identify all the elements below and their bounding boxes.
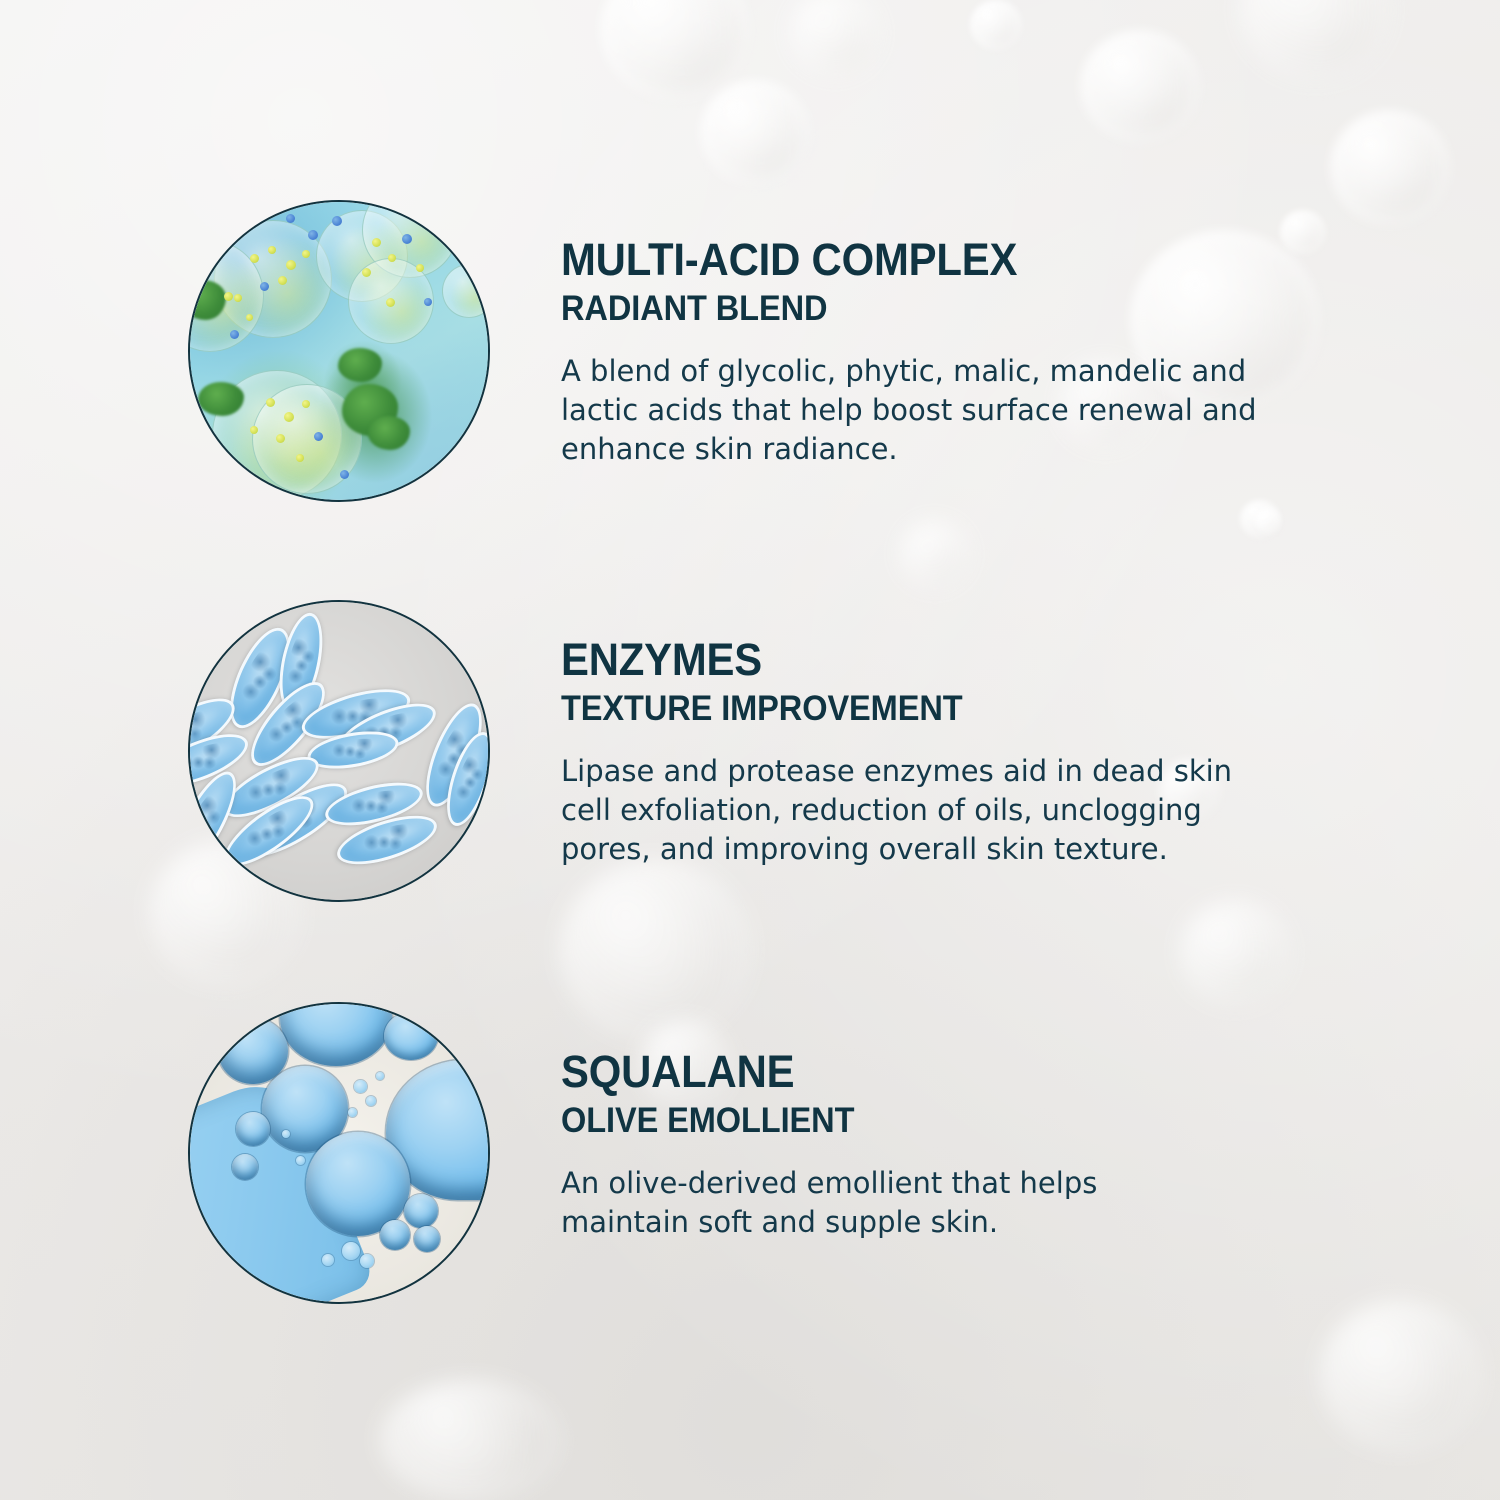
oil-droplet	[236, 1112, 270, 1146]
description-line: Lipase and protease enzymes aid in dead …	[561, 752, 1232, 791]
granule	[416, 264, 424, 272]
granule	[278, 276, 287, 285]
granule	[250, 426, 258, 434]
granule	[424, 298, 432, 306]
chloroplast-blob	[338, 348, 382, 382]
cell-body	[442, 264, 488, 318]
description-line: A blend of glycolic, phytic, malic, mand…	[561, 352, 1257, 391]
oil-droplet	[348, 1108, 357, 1117]
ingredient-text-multi-acid-complex: MULTI-ACID COMPLEX RADIANT BLEND A blend…	[561, 234, 1257, 469]
granule	[340, 470, 349, 479]
granule	[284, 412, 294, 422]
granule	[250, 254, 259, 263]
oil-droplet	[360, 1254, 374, 1268]
description-line: cell exfoliation, reduction of oils, unc…	[561, 791, 1232, 830]
granule	[296, 454, 304, 462]
background-bubble	[790, 0, 880, 76]
background-bubble	[1255, 508, 1281, 533]
background-bubble	[560, 860, 750, 1040]
granule	[302, 400, 310, 408]
chloroplast-blob	[198, 382, 244, 416]
squalane-droplets-circle	[188, 1002, 490, 1304]
enzyme-rods-image	[190, 602, 488, 900]
ingredient-description: Lipase and protease enzymes aid in dead …	[561, 752, 1232, 869]
description-line: lactic acids that help boost surface ren…	[561, 391, 1257, 430]
oil-droplet	[282, 1130, 290, 1138]
granule	[266, 398, 275, 407]
granule	[234, 294, 242, 302]
ingredient-title: SQUALANE	[561, 1046, 1060, 1098]
background-bubble	[1280, 210, 1326, 254]
background-bubble	[380, 1380, 560, 1500]
granule	[260, 282, 269, 291]
ingredient-subtitle: RADIANT BLEND	[561, 288, 1208, 330]
oil-droplet	[366, 1096, 376, 1106]
description-line: maintain soft and supple skin.	[561, 1203, 1097, 1242]
oil-droplet	[376, 1072, 384, 1080]
granule	[402, 234, 412, 244]
oil-droplet	[414, 1226, 440, 1252]
granule	[388, 254, 396, 262]
background-bubble	[1080, 30, 1200, 142]
ingredient-subtitle: OLIVE EMOLLIENT	[561, 1100, 1060, 1142]
background-bubble	[1330, 110, 1450, 225]
squalane-droplets-image	[190, 1004, 488, 1302]
background-bubble	[970, 0, 1022, 50]
granule	[276, 434, 285, 443]
description-line: An olive-derived emollient that helps	[561, 1164, 1097, 1203]
granule	[230, 330, 239, 339]
background-bubble	[1320, 1300, 1480, 1450]
oil-droplet	[232, 1154, 258, 1180]
ingredient-description: A blend of glycolic, phytic, malic, mand…	[561, 352, 1257, 469]
ingredient-description: An olive-derived emollient that helps ma…	[561, 1164, 1097, 1242]
background-bubble	[700, 80, 810, 185]
granule	[268, 246, 276, 254]
granule	[308, 230, 318, 240]
granule	[372, 238, 381, 247]
oil-droplet	[354, 1080, 367, 1093]
ingredient-title: ENZYMES	[561, 634, 1185, 686]
granule	[302, 250, 310, 258]
granule	[386, 298, 395, 307]
granule	[314, 432, 323, 441]
oil-droplet	[380, 1220, 410, 1250]
description-line: pores, and improving overall skin textur…	[561, 830, 1232, 869]
granule	[224, 292, 233, 301]
background-bubble	[1240, 0, 1390, 80]
granule	[246, 314, 253, 321]
oil-droplet	[404, 1194, 438, 1228]
acid-cells-microscopy-circle	[188, 200, 490, 502]
oil-droplet	[296, 1156, 305, 1165]
ingredient-text-enzymes: ENZYMES TEXTURE IMPROVEMENT Lipase and p…	[561, 634, 1232, 869]
ingredient-subtitle: TEXTURE IMPROVEMENT	[561, 688, 1185, 730]
granule	[332, 216, 342, 226]
ingredient-title: MULTI-ACID COMPLEX	[561, 234, 1208, 286]
description-line: enhance skin radiance.	[561, 430, 1257, 469]
oil-droplet	[280, 1004, 392, 1066]
granule	[362, 268, 371, 277]
background-bubble	[1180, 900, 1290, 1005]
chloroplast-blob	[368, 416, 410, 450]
oil-droplet	[342, 1242, 360, 1260]
oil-droplet	[384, 1012, 438, 1060]
oil-droplet	[322, 1254, 334, 1266]
granule	[286, 260, 296, 270]
background-bubble	[900, 520, 970, 588]
ingredient-infographic: MULTI-ACID COMPLEX RADIANT BLEND A blend…	[0, 0, 1500, 1500]
background-bubble	[600, 0, 750, 100]
acid-cells-image	[190, 202, 488, 500]
oil-droplet	[218, 1018, 288, 1084]
enzyme-rods-microscopy-circle	[188, 600, 490, 902]
granule	[286, 214, 295, 223]
ingredient-text-squalane: SQUALANE OLIVE EMOLLIENT An olive-derive…	[561, 1046, 1097, 1242]
